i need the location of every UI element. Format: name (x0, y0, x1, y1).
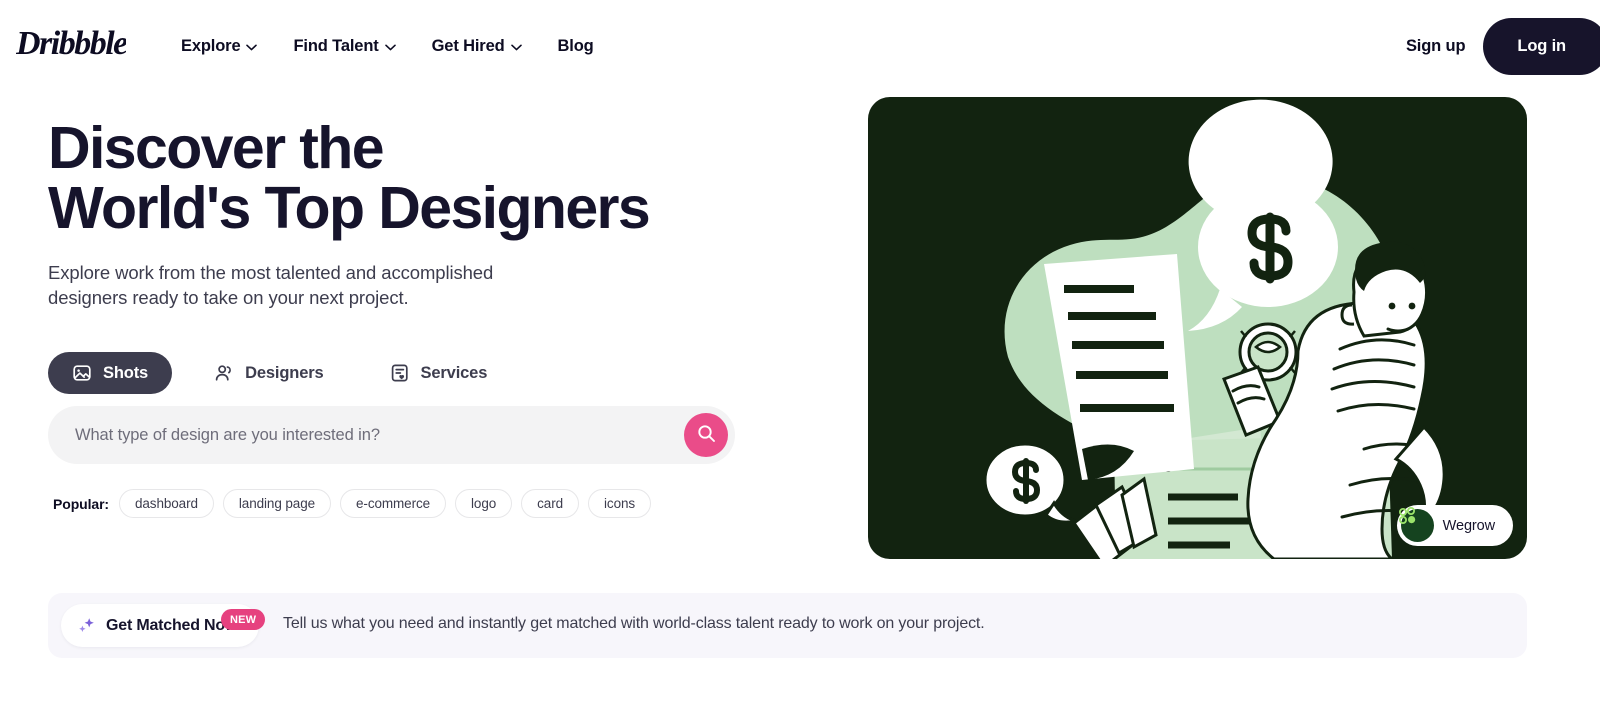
new-badge: NEW (221, 609, 265, 630)
header-actions: Sign up Log in (1406, 0, 1600, 93)
sign-up-link[interactable]: Sign up (1406, 37, 1465, 56)
nav-item-find-talent[interactable]: Find Talent (275, 37, 413, 56)
log-in-button[interactable]: Log in (1483, 18, 1600, 75)
featured-shot-card[interactable]: Wegrow (868, 97, 1527, 559)
hero-illustration (868, 97, 1527, 559)
tab-services-label: Services (421, 364, 488, 383)
nav-item-get-hired-label: Get Hired (432, 37, 505, 56)
hero-subtitle: Explore work from the most talented and … (48, 260, 788, 310)
search-input[interactable] (48, 406, 684, 464)
chevron-down-icon (385, 44, 396, 51)
popular-tag-logo[interactable]: logo (455, 489, 512, 518)
popular-tag-dashboard[interactable]: dashboard (119, 489, 214, 518)
tab-designers-label: Designers (245, 364, 323, 383)
nav-item-explore-label: Explore (181, 37, 240, 56)
search-bar (48, 406, 735, 464)
hero-copy: Discover the World's Top Designers Explo… (48, 118, 788, 310)
wegrow-dots-logo-icon (1401, 509, 1434, 542)
wegrow-badge[interactable]: Wegrow (1397, 505, 1513, 546)
page-title: Discover the World's Top Designers (48, 118, 788, 238)
tab-shots[interactable]: Shots (48, 352, 172, 394)
chevron-down-icon (246, 44, 257, 51)
popular-tag-icons[interactable]: icons (588, 489, 651, 518)
svg-text:Dribbble: Dribbble (16, 25, 126, 62)
nav-item-explore[interactable]: Explore (163, 37, 275, 56)
popular-tag-landing-page[interactable]: landing page (223, 489, 331, 518)
tab-services[interactable]: Services (366, 352, 512, 394)
get-matched-now-label: Get Matched Now (106, 617, 237, 635)
services-list-heart-icon (390, 363, 410, 383)
dribbble-logo[interactable]: Dribbble (16, 24, 126, 64)
nav-item-blog[interactable]: Blog (540, 37, 612, 56)
chevron-down-icon (511, 44, 522, 51)
sparkle-icon (77, 616, 96, 635)
nav-item-get-hired[interactable]: Get Hired (414, 37, 540, 56)
people-icon (214, 363, 234, 383)
search-submit-button[interactable] (684, 413, 728, 457)
image-icon (72, 363, 92, 383)
popular-tag-card[interactable]: card (521, 489, 579, 518)
wegrow-label: Wegrow (1443, 518, 1495, 534)
nav-item-find-talent-label: Find Talent (293, 37, 378, 56)
tab-designers[interactable]: Designers (190, 352, 347, 394)
main-nav: Explore Find Talent Get Hired Blog (163, 0, 612, 93)
tab-shots-label: Shots (103, 364, 148, 383)
nav-item-blog-label: Blog (558, 37, 594, 56)
popular-tags: Popular: dashboard landing page e-commer… (53, 489, 660, 518)
search-icon (696, 423, 717, 447)
popular-label: Popular: (53, 496, 109, 512)
banner-description: Tell us what you need and instantly get … (283, 615, 985, 633)
popular-tag-e-commerce[interactable]: e-commerce (340, 489, 446, 518)
search-scope-tabs: Shots Designers Services (48, 352, 511, 394)
site-header: Dribbble Explore Find Talent Get Hired B… (0, 0, 1600, 93)
